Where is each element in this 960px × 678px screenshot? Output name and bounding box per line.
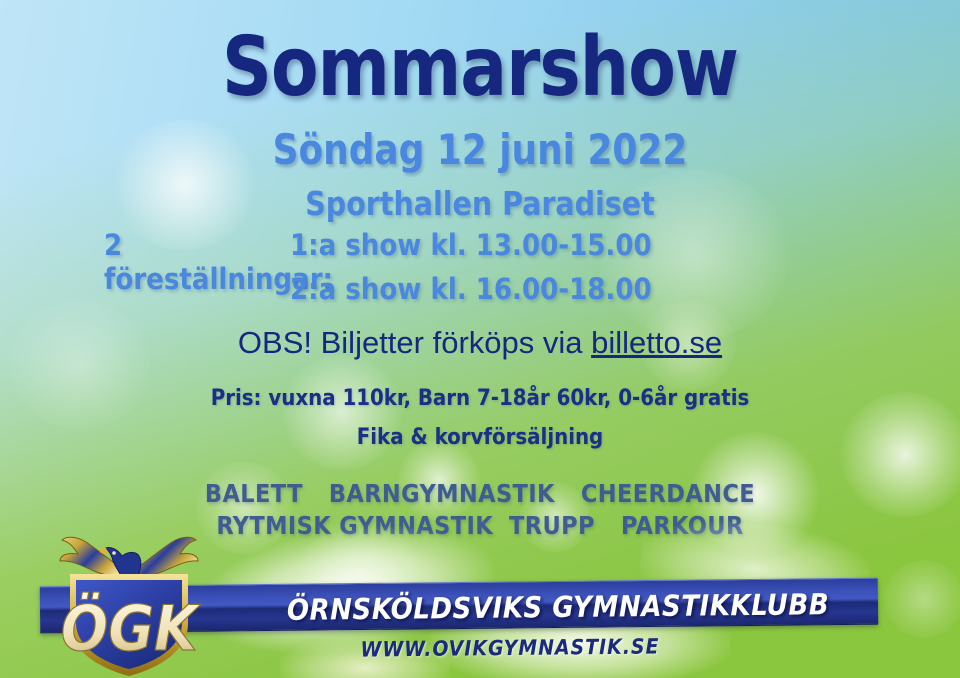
ticket-notice-text: OBS! Biljetter förköps via <box>238 325 591 360</box>
club-name: ÖRNSKÖLDSVIKS GYMNASTIKKLUBB <box>238 583 878 632</box>
poster-title: Sommarshow <box>29 20 931 115</box>
showtime-row-1: 2 föreställningar: 1:a show kl. 13.00-15… <box>0 228 960 257</box>
ticket-notice: OBS! Biljetter förköps via billetto.se <box>0 325 960 361</box>
disciplines-row-1: BALETTBARNGYMNASTIKCHEERDANCE <box>0 479 960 508</box>
discipline-cheerdance: CHEERDANCE <box>581 479 755 508</box>
event-venue: Sporthallen Paradiset <box>19 184 941 223</box>
discipline-parkour: PARKOUR <box>621 511 744 540</box>
discipline-rytmisk-gymnastik: RYTMISK GYMNASTIK <box>216 511 493 540</box>
discipline-balett: BALETT <box>205 479 303 508</box>
showtime-1: 1:a show kl. 13.00-15.00 <box>290 228 652 262</box>
event-date: Söndag 12 juni 2022 <box>24 125 936 174</box>
summer-show-poster: Sommarshow Söndag 12 juni 2022 Sporthall… <box>0 0 960 678</box>
eagle-icon <box>60 537 198 580</box>
bokeh-light-8 <box>196 462 292 554</box>
bokeh-light-2 <box>282 355 402 470</box>
bokeh-light-11 <box>884 560 960 638</box>
food-info: Fika & korvförsäljning <box>0 425 960 450</box>
showtimes-label: 2 föreställningar: <box>0 228 290 296</box>
discipline-barngymnastik: BARNGYMNASTIK <box>329 479 555 508</box>
showtime-2: 2:a show kl. 16.00-18.00 <box>290 272 652 306</box>
billetto-link[interactable]: billetto.se <box>591 325 722 360</box>
price-info: Pris: vuxna 110kr, Barn 7-18år 60kr, 0-6… <box>0 386 960 411</box>
showtimes-block: 2 föreställningar: 1:a show kl. 13.00-15… <box>0 228 960 316</box>
discipline-trupp: TRUPP <box>509 511 595 540</box>
